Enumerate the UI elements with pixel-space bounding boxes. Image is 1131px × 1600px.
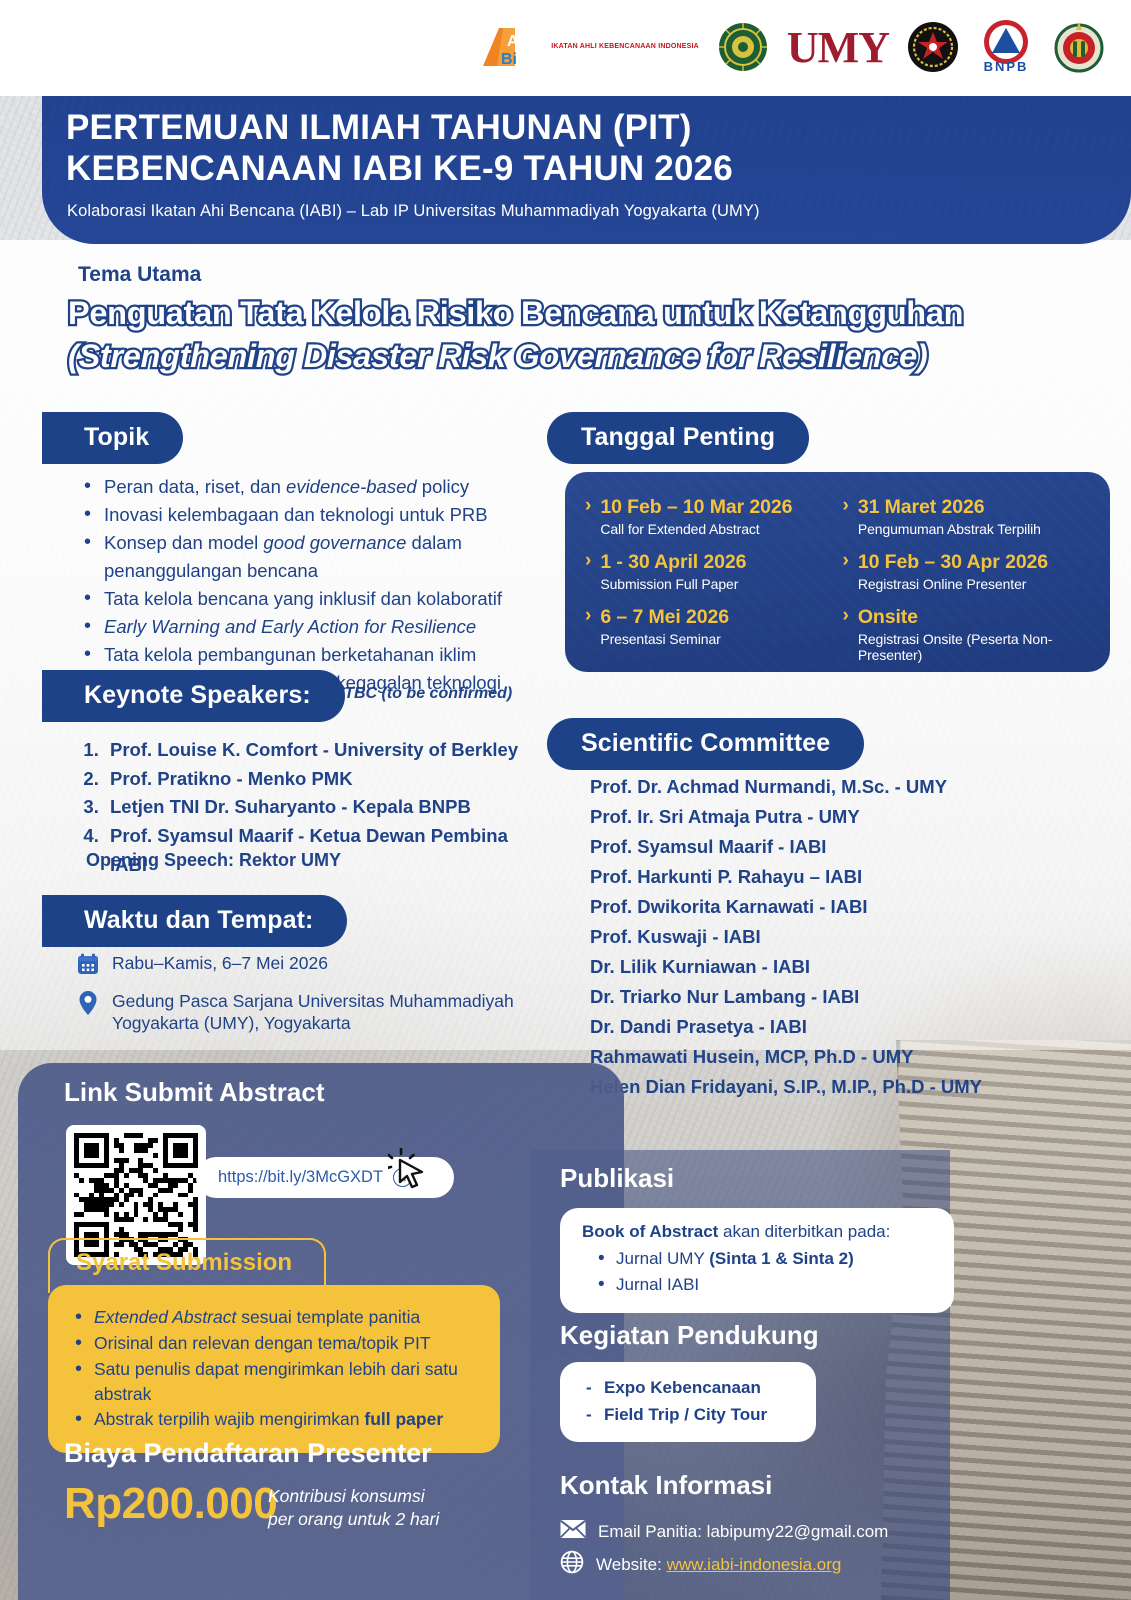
chevron-right-icon: › [843, 551, 849, 571]
opening-speech: Opening Speech: Rektor UMY [86, 850, 341, 871]
biaya-heading: Biaya Pendaftaran Presenter [64, 1438, 432, 1469]
committee-item: Rahmawati Husein, MCP, Ph.D - UMY [590, 1042, 1060, 1072]
event-venue-row: Gedung Pasca Sarjana Universitas Muhamma… [76, 990, 546, 1035]
chevron-right-icon: › [843, 606, 849, 626]
kegiatan-card: Expo KebencanaanField Trip / City Tour [560, 1362, 816, 1442]
date-value: 1 - 30 April 2026 [600, 551, 746, 574]
publikasi-list: Jurnal UMY (Sinta 1 & Sinta 2)Jurnal IAB… [582, 1246, 932, 1297]
kontak-email-value: labipumy22@gmail.com [707, 1522, 889, 1541]
kontak-email-label: Email Panitia: [598, 1522, 707, 1541]
kontak-heading: Kontak Informasi [560, 1470, 772, 1501]
page-subtitle: Kolaborasi Ikatan Ahi Bencana (IABI) – L… [67, 202, 760, 221]
kontak-website-link[interactable]: www.iabi-indonesia.org [667, 1555, 842, 1574]
date-value: 31 Maret 2026 [858, 496, 1041, 519]
kegiatan-item: Expo Kebencanaan [568, 1374, 798, 1401]
syarat-item: Orisinal dan relevan dengan tema/topik P… [70, 1331, 478, 1356]
location-pin-icon [76, 990, 100, 1021]
iabi-logo: A Bi IKATAN AHLI KEBENCANAAN INDONESIA [477, 16, 699, 78]
syarat-list: Extended Abstract sesuai template paniti… [70, 1305, 478, 1432]
event-date-row: Rabu–Kamis, 6–7 Mei 2026 [76, 952, 546, 981]
poster-root: A Bi IKATAN AHLI KEBENCANAAN INDONESIA [0, 0, 1131, 1600]
scientific-committee-list: Prof. Dr. Achmad Nurmandi, M.Sc. - UMYPr… [590, 772, 1060, 1102]
keynote-tbc-note: *TBC (to be confirmed) [338, 685, 512, 703]
date-description: Presentasi Seminar [600, 631, 729, 647]
event-venue-text: Gedung Pasca Sarjana Universitas Muhamma… [112, 990, 546, 1035]
committee-item: Prof. Harkunti P. Rahayu – IABI [590, 862, 1060, 892]
iabi-logo-caption: IKATAN AHLI KEBENCANAAN INDONESIA [551, 43, 699, 51]
committee-item: Prof. Syamsul Maarif - IABI [590, 832, 1060, 862]
committee-item: Prof. Dwikorita Karnawati - IABI [590, 892, 1060, 922]
cursor-pointer-icon [388, 1148, 436, 1201]
date-item: ›31 Maret 2026Pengumuman Abstrak Terpili… [843, 496, 1095, 537]
theme-english: (Strengthening Disaster Risk Governance … [68, 335, 1048, 378]
date-value: 6 – 7 Mei 2026 [600, 606, 729, 629]
committee-item: Helen Dian Fridayani, S.IP., M.IP., Ph.D… [590, 1072, 1060, 1102]
publikasi-lead: Book of Abstract akan diterbitkan pada: [582, 1222, 932, 1242]
theme-indonesian: Penguatan Tata Kelola Risiko Bencana unt… [68, 292, 1048, 335]
kontak-website-label: Website: [596, 1555, 667, 1574]
syarat-submission-block: Syarat Submission Extended Abstract sesu… [48, 1238, 500, 1453]
keynote-item: Letjen TNI Dr. Suharyanto - Kepala BNPB [104, 793, 548, 822]
topik-item: Tata kelola pembangunan berketahanan ikl… [78, 641, 548, 668]
kontak-website-row: Website: www.iabi-indonesia.org [560, 1550, 888, 1579]
kontak-rows: Email Panitia: labipumy22@gmail.com Webs… [560, 1519, 888, 1585]
publikasi-heading: Publikasi [560, 1163, 674, 1194]
topik-item: Early Warning and Early Action for Resil… [78, 613, 548, 640]
date-item: ›10 Feb – 10 Mar 2026Call for Extended A… [585, 496, 837, 537]
submit-url-text: https://bit.ly/3McGXDT [218, 1168, 383, 1187]
page-title-line2: KEBENCANAAN IABI KE-9 TAHUN 2026 [66, 149, 733, 190]
biaya-note-line2: per orang untuk 2 hari [268, 1508, 439, 1531]
envelope-icon [560, 1519, 586, 1544]
submit-heading: Link Submit Abstract [64, 1077, 325, 1108]
date-value: 10 Feb – 30 Apr 2026 [858, 551, 1048, 574]
publikasi-card: Book of Abstract akan diterbitkan pada: … [560, 1208, 954, 1313]
keynote-heading: Keynote Speakers: [42, 670, 345, 722]
date-item: ›10 Feb – 30 Apr 2026Registrasi Online P… [843, 551, 1095, 592]
waktu-tempat-rows: Rabu–Kamis, 6–7 Mei 2026 Gedung Pasca Sa… [76, 952, 546, 1044]
theme-label: Tema Utama [78, 263, 201, 287]
kemhan-logo [907, 16, 959, 78]
publikasi-lead-rest: akan diterbitkan pada: [718, 1222, 890, 1241]
umy-wordmark-logo: UMY [787, 16, 889, 78]
date-value: 10 Feb – 10 Mar 2026 [600, 496, 792, 519]
date-description: Call for Extended Abstract [600, 521, 792, 537]
date-value: Onsite [858, 606, 1094, 629]
date-description: Pengumuman Abstrak Terpilih [858, 521, 1041, 537]
kegiatan-heading: Kegiatan Pendukung [560, 1320, 819, 1351]
umy-seal-logo [717, 16, 769, 78]
syarat-body: Extended Abstract sesuai template paniti… [48, 1285, 500, 1453]
date-item: ›OnsiteRegistrasi Onsite (Peserta Non-Pr… [843, 606, 1095, 663]
tanggal-penting-heading: Tanggal Penting [547, 412, 809, 464]
svg-text:A: A [507, 33, 519, 50]
page-title-line1: PERTEMUAN ILMIAH TAHUNAN (PIT) [66, 108, 733, 149]
tanggal-penting-card: ›10 Feb – 10 Mar 2026Call for Extended A… [565, 472, 1110, 672]
calendar-icon [76, 952, 100, 981]
kontak-email-text: Email Panitia: labipumy22@gmail.com [598, 1522, 888, 1542]
syarat-item: Extended Abstract sesuai template paniti… [70, 1305, 478, 1330]
publikasi-item: Jurnal IABI [582, 1272, 932, 1298]
syarat-item: Satu penulis dapat mengirimkan lebih dar… [70, 1357, 478, 1407]
theme-text: Penguatan Tata Kelola Risiko Bencana unt… [68, 292, 1048, 378]
tanggal-penting-grid: ›10 Feb – 10 Mar 2026Call for Extended A… [565, 472, 1110, 672]
topik-item: Inovasi kelembagaan dan teknologi untuk … [78, 501, 548, 528]
committee-item: Prof. Kuswaji - IABI [590, 922, 1060, 952]
topik-list: Peran data, riset, dan evidence-based po… [78, 473, 548, 698]
publikasi-item: Jurnal UMY (Sinta 1 & Sinta 2) [582, 1246, 932, 1272]
biaya-note-line1: Kontribusi konsumsi [268, 1485, 439, 1508]
kegiatan-list: Expo KebencanaanField Trip / City Tour [568, 1374, 798, 1428]
biaya-note: Kontribusi konsumsi per orang untuk 2 ha… [268, 1485, 439, 1531]
date-description: Registrasi Online Presenter [858, 576, 1048, 592]
svg-text:Bi: Bi [501, 51, 517, 68]
keynote-item: Prof. Louise K. Comfort - University of … [104, 736, 548, 765]
chevron-right-icon: › [585, 496, 591, 516]
logo-row: A Bi IKATAN AHLI KEBENCANAAN INDONESIA [477, 8, 1105, 86]
date-description: Submission Full Paper [600, 576, 746, 592]
date-item: ›6 – 7 Mei 2026Presentasi Seminar [585, 606, 837, 663]
committee-item: Dr. Lilik Kurniawan - IABI [590, 952, 1060, 982]
logo-strip: A Bi IKATAN AHLI KEBENCANAAN INDONESIA [0, 0, 1131, 96]
event-date-text: Rabu–Kamis, 6–7 Mei 2026 [112, 952, 328, 974]
topik-item: Konsep dan model good governance dalam p… [78, 529, 548, 583]
date-description: Registrasi Onsite (Peserta Non-Presenter… [858, 631, 1094, 663]
date-item: ›1 - 30 April 2026Submission Full Paper [585, 551, 837, 592]
diy-logo [1053, 16, 1105, 78]
biaya-amount: Rp200.000 [64, 1479, 277, 1529]
bnpb-logo: BNPB [977, 16, 1035, 78]
kontak-email-row: Email Panitia: labipumy22@gmail.com [560, 1519, 888, 1544]
chevron-right-icon: › [585, 551, 591, 571]
topik-item: Tata kelola bencana yang inklusif dan ko… [78, 585, 548, 612]
chevron-right-icon: › [585, 606, 591, 626]
committee-item: Prof. Ir. Sri Atmaja Putra - UMY [590, 802, 1060, 832]
kontak-website-text: Website: www.iabi-indonesia.org [596, 1555, 841, 1575]
committee-item: Dr. Triarko Nur Lambang - IABI [590, 982, 1060, 1012]
committee-item: Prof. Dr. Achmad Nurmandi, M.Sc. - UMY [590, 772, 1060, 802]
keynote-item: Prof. Pratikno - Menko PMK [104, 765, 548, 794]
svg-text:BNPB: BNPB [984, 59, 1029, 74]
syarat-item: Abstrak terpilih wajib mengirimkan full … [70, 1407, 478, 1432]
publikasi-lead-bold: Book of Abstract [582, 1222, 718, 1241]
scientific-committee-heading: Scientific Committee [547, 718, 864, 770]
chevron-right-icon: › [843, 496, 849, 516]
topik-heading: Topik [42, 412, 183, 464]
page-title: PERTEMUAN ILMIAH TAHUNAN (PIT) KEBENCANA… [66, 108, 733, 190]
topik-item: Peran data, riset, dan evidence-based po… [78, 473, 548, 500]
waktu-tempat-heading: Waktu dan Tempat: [42, 895, 347, 947]
kegiatan-item: Field Trip / City Tour [568, 1401, 798, 1428]
globe-icon [560, 1550, 584, 1579]
committee-item: Dr. Dandi Prasetya - IABI [590, 1012, 1060, 1042]
